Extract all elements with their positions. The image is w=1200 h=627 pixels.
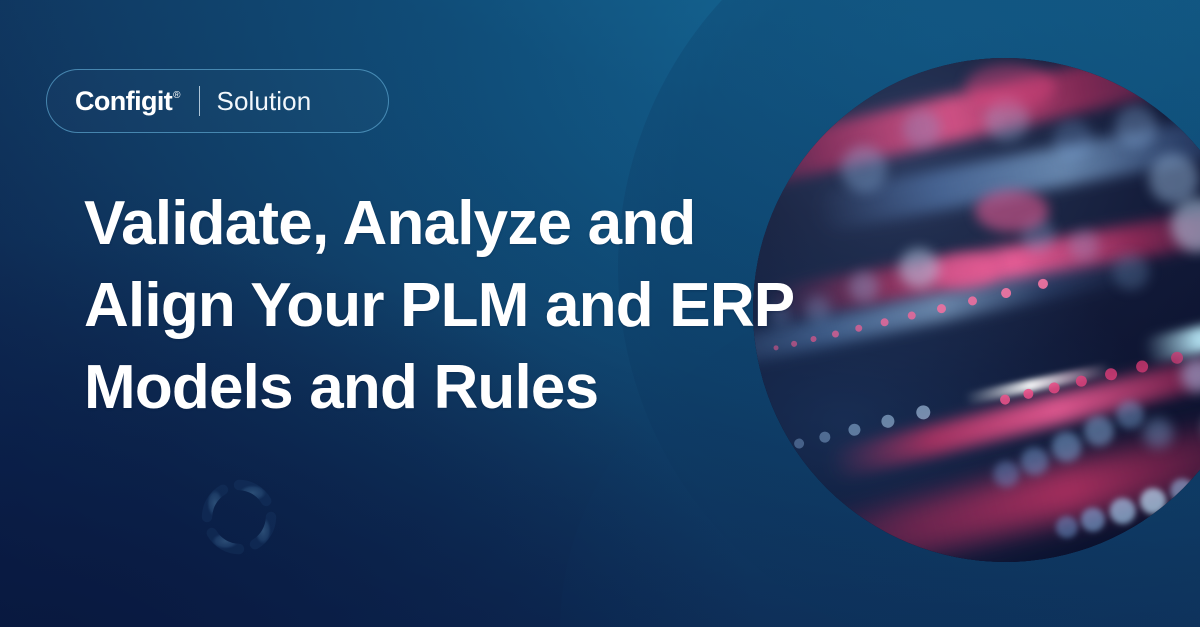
badge-divider [199,86,200,116]
brand-name-text: Configit [75,86,172,116]
bokeh-dot [1143,418,1173,448]
brand-badge: Configit® Solution [46,69,389,133]
headline-line-2: Align Your PLM and ERP [84,265,874,347]
bokeh-dot [1053,120,1093,160]
bokeh-dot [1113,254,1149,290]
bokeh-dot [1149,154,1199,204]
headline-line-1: Validate, Analyze and [84,183,874,265]
registered-trademark-icon: ® [173,90,180,101]
bokeh-dot [903,110,941,148]
badge-category-label: Solution [217,88,312,114]
bokeh-dot [931,254,997,288]
marketing-banner: Configit® Solution Validate, Analyze and… [0,0,1200,627]
bokeh-dot [899,248,939,288]
brand-name: Configit® [75,88,180,115]
bokeh-dot [1069,230,1099,260]
bokeh-dot [965,64,1055,110]
headline-line-3: Models and Rules [84,347,874,429]
bokeh-dot [975,190,1049,232]
configit-ring-watermark-icon [199,477,279,557]
bokeh-dot [1115,106,1157,148]
page-title: Validate, Analyze and Align Your PLM and… [84,183,874,429]
